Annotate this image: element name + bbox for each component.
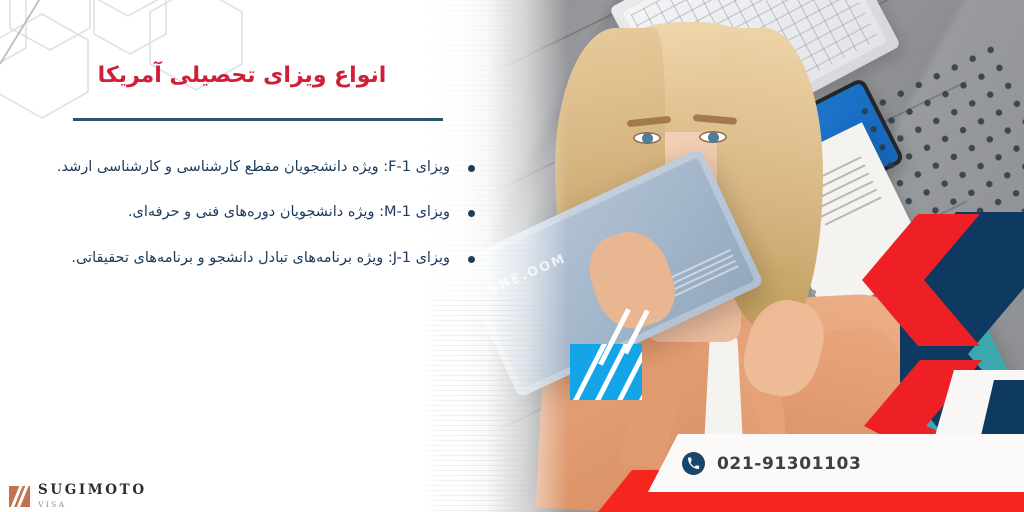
phone-handset-icon (682, 452, 705, 475)
slide-canvas: SHE.OOM (0, 0, 1024, 512)
bullet-dot-icon (468, 210, 475, 217)
list-item: ویزای M-1: ویژه دانشجویان دوره‌های فنی و… (10, 201, 475, 223)
list-item: ویزای F-1: ویژه دانشجویان مقطع کارشناسی … (10, 156, 475, 178)
logo-subtitle: VISA (38, 501, 147, 509)
list-item: ویزای J-1: ویژه برنامه‌های تبادل دانشجو … (10, 247, 475, 269)
logo-name: SUGIMOTO (38, 484, 147, 498)
bullet-dot-icon (468, 256, 475, 263)
brand-logo: SUGIMOTO VISA (9, 484, 147, 508)
visa-type-list: ویزای F-1: ویژه دانشجویان مقطع کارشناسی … (10, 156, 475, 292)
phone-number: 021-91301103 (717, 454, 861, 474)
list-item-label: ویزای J-1: ویژه برنامه‌های تبادل دانشجو … (10, 247, 454, 269)
contact-info[interactable]: 021-91301103 (682, 452, 861, 475)
page-title: انواع ویزای تحصیلی آمریکا (72, 63, 412, 88)
list-item-label: ویزای M-1: ویژه دانشجویان دوره‌های فنی و… (10, 201, 454, 223)
bullet-dot-icon (468, 165, 475, 172)
list-item-label: ویزای F-1: ویژه دانشجویان مقطع کارشناسی … (10, 156, 454, 178)
sugimoto-slash-mark-icon (9, 486, 30, 507)
scanline-texture-warm (430, 300, 570, 512)
title-underline (73, 118, 443, 121)
